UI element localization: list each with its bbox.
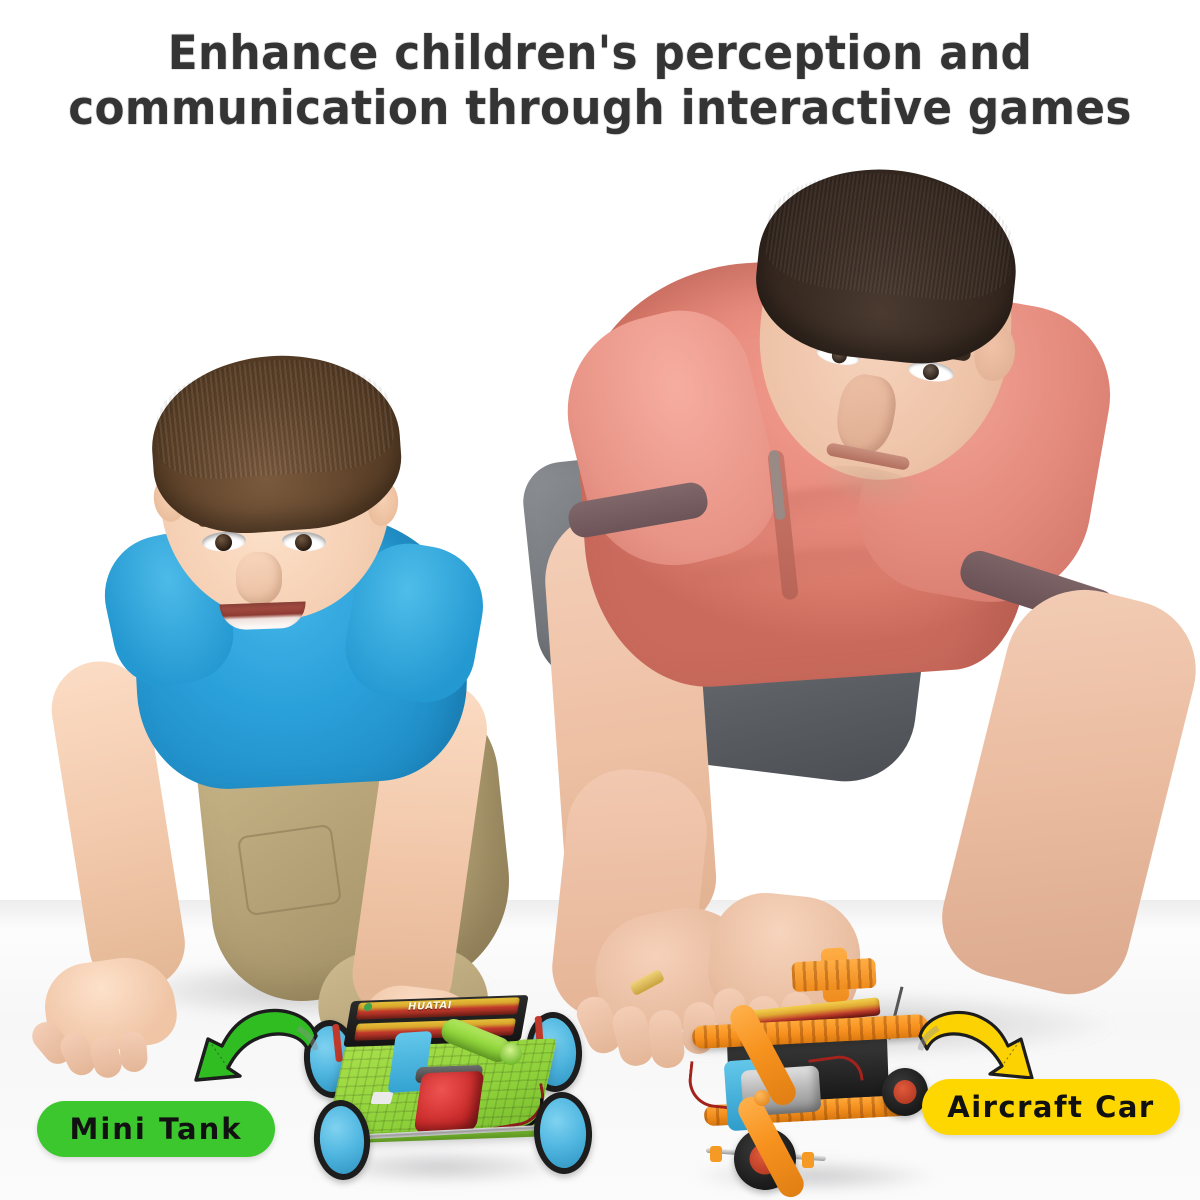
callout-pill-aircraft-car[interactable]: Aircraft Car xyxy=(922,1079,1180,1135)
man-figure xyxy=(520,150,1200,1050)
plane-propeller-hub xyxy=(754,1090,770,1106)
headline-line-2: communication through interactive games xyxy=(42,81,1158,136)
boy-pants-pocket xyxy=(237,824,342,916)
callout-label-aircraft-car: Aircraft Car xyxy=(947,1090,1154,1124)
boy-hair xyxy=(146,348,406,540)
page-title: Enhance children's perception and commun… xyxy=(0,26,1200,136)
callout-label-mini-tank: Mini Tank xyxy=(69,1112,242,1146)
callout-pill-mini-tank[interactable]: Mini Tank xyxy=(37,1101,275,1157)
boy-nose xyxy=(236,552,282,604)
tank-wheel-rear-right xyxy=(532,1091,594,1176)
mini-tank-toy: HUATAI xyxy=(300,980,590,1180)
plane-axle-clip-right xyxy=(802,1152,814,1168)
boy-left-finger-4 xyxy=(119,1031,149,1073)
tank-sticker xyxy=(371,1092,394,1104)
plane-axle-clip-left xyxy=(710,1146,722,1162)
tank-battery-label: HUATAI xyxy=(407,1000,453,1013)
curved-arrow-left-icon xyxy=(178,1006,318,1102)
promo-banner: Enhance children's perception and commun… xyxy=(0,0,1200,1200)
tank-motor xyxy=(414,1071,485,1133)
boy-figure xyxy=(30,360,590,1060)
headline-line-1: Enhance children's perception and xyxy=(42,26,1158,81)
